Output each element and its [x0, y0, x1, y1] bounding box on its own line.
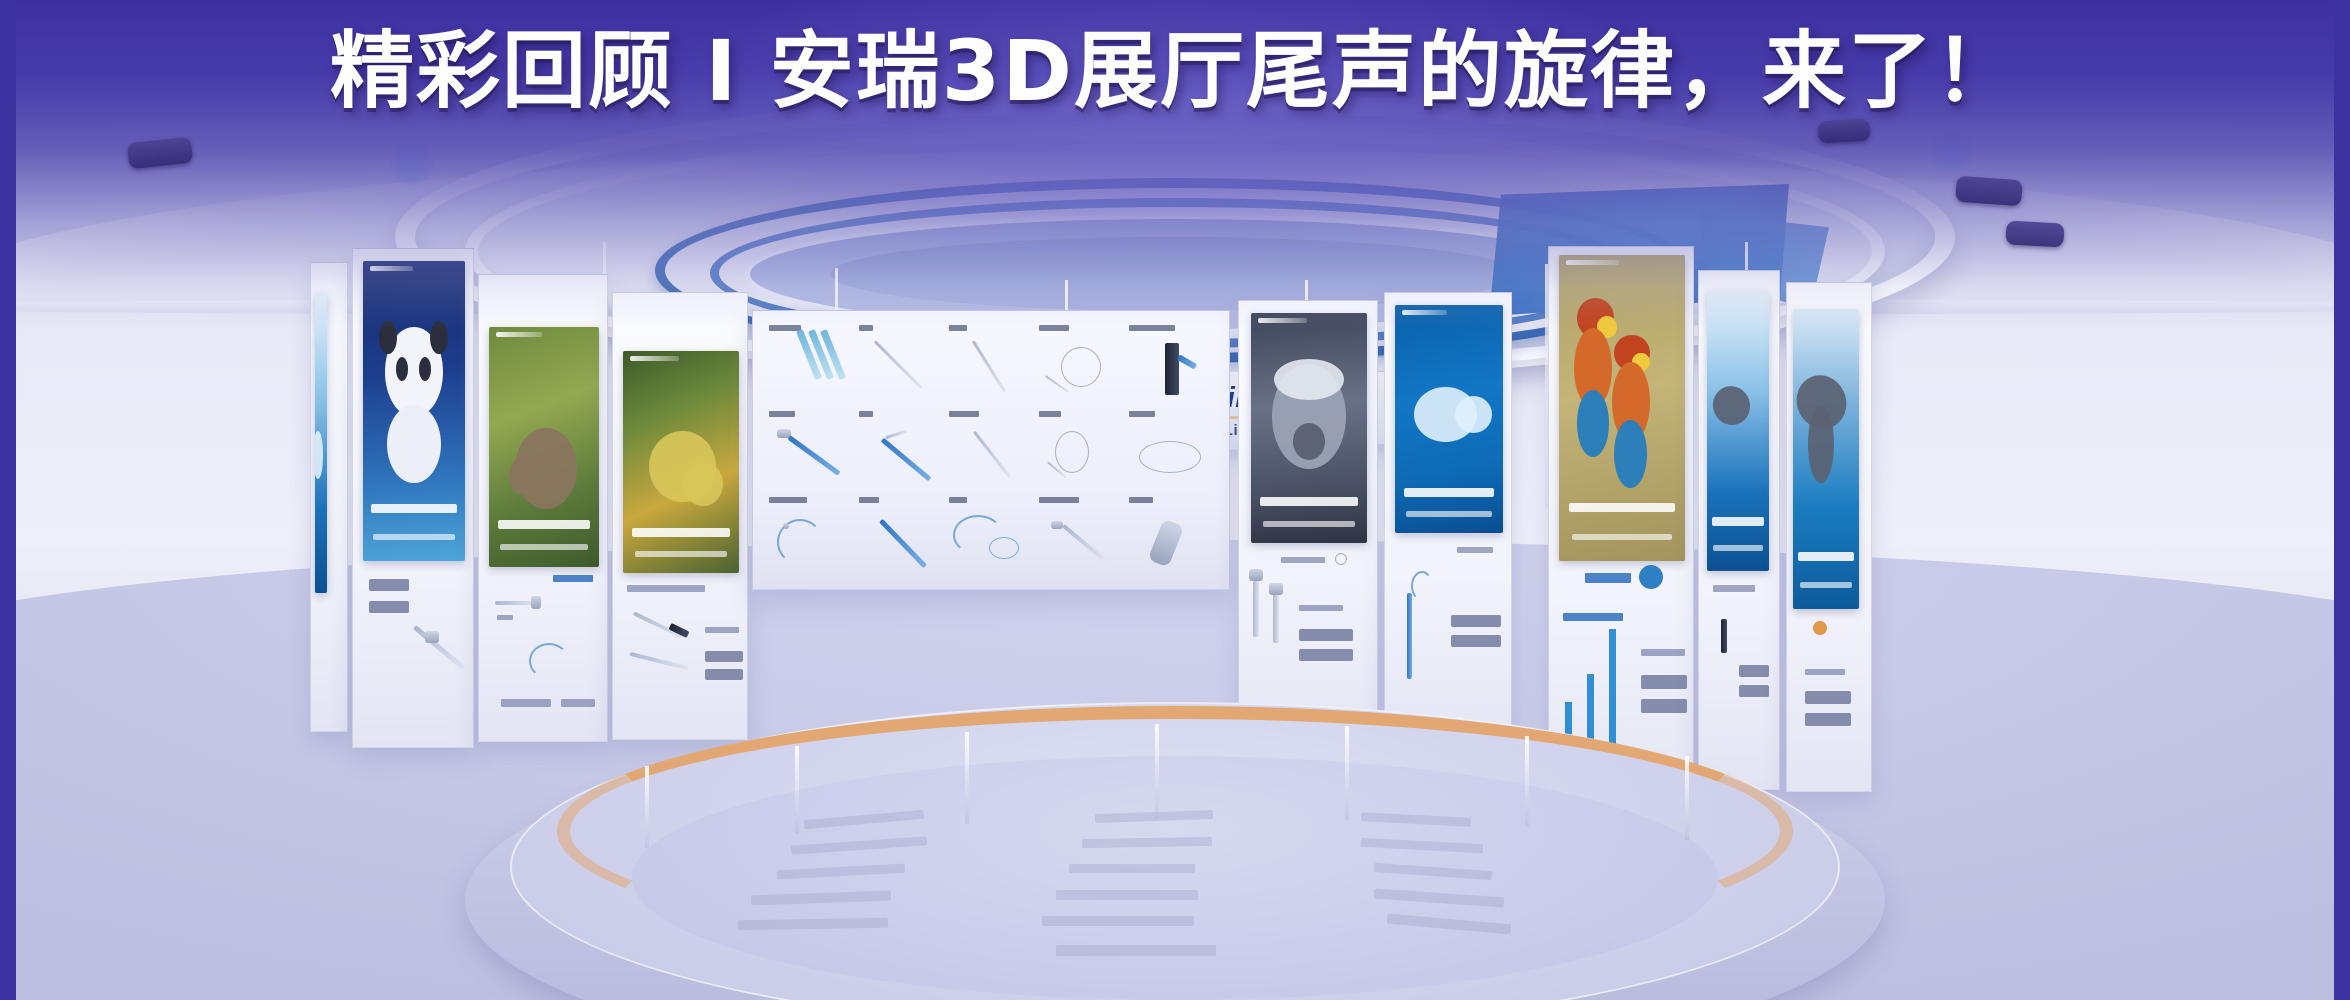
poster-subtitle-bar: [1263, 521, 1356, 527]
platform-post: [1685, 756, 1689, 840]
product-cell: [859, 411, 943, 489]
poster-subtitle-bar: [1800, 582, 1853, 588]
kangaroo-poster[interactable]: [489, 327, 599, 567]
poster-subtitle-bar: [1713, 545, 1763, 551]
circular-stage-platform: [465, 680, 1885, 1000]
frog-poster[interactable]: [623, 351, 739, 573]
product-cell: [859, 325, 943, 403]
poster-brandmark-icon: [1258, 318, 1307, 323]
product-cell: [949, 325, 1033, 403]
platform-post: [965, 732, 969, 824]
left-edge-strip: [0, 0, 16, 1000]
ice-poster[interactable]: [315, 293, 327, 593]
panda-poster[interactable]: [363, 261, 465, 561]
poster-title-bar: [498, 520, 590, 529]
poster-subtitle-bar: [1406, 511, 1492, 517]
ring-glint-left: [389, 140, 435, 186]
poster-subtitle-bar: [500, 544, 588, 550]
info-badge-icon: [1639, 565, 1663, 589]
poster-title-bar: [632, 528, 729, 537]
platform-post: [1525, 736, 1529, 826]
product-cell: [1129, 411, 1217, 489]
poster-brandmark-icon: [630, 356, 679, 361]
poster-subtitle-bar: [373, 534, 455, 540]
poster-brandmark-icon: [496, 332, 542, 337]
panel-far-left[interactable]: [310, 262, 348, 732]
product-cell: [769, 497, 853, 577]
product-cell: [949, 411, 1033, 489]
poster-title-bar: [1569, 503, 1675, 512]
ceiling-spotlight: [1817, 119, 1870, 144]
poster-brandmark-icon: [1566, 260, 1619, 265]
platform-post: [645, 766, 649, 848]
bird-poster[interactable]: [1559, 255, 1685, 561]
poster-title-bar: [1404, 488, 1495, 497]
right-edge-strip: [2334, 0, 2350, 1000]
product-cell: [1039, 325, 1123, 403]
product-grid-board[interactable]: [752, 310, 1230, 590]
product-cell: [1039, 497, 1123, 577]
poster-brandmark-icon: [1402, 310, 1447, 315]
platform-post: [1345, 726, 1349, 820]
product-cell: [1129, 497, 1217, 577]
poster-title-bar: [1712, 517, 1764, 526]
poster-brandmark-icon: [370, 266, 413, 271]
poster-title-bar: [1260, 497, 1357, 506]
ceiling-spotlight: [2005, 220, 2064, 247]
ice-poster-2[interactable]: [1707, 291, 1769, 571]
exhibition-banner: Anrei&Sinolinks Keep Safe Keep Life: [0, 0, 2350, 1000]
page-title: 精彩回顾 I 安瑞3D展厅尾声的旋律，来了！: [0, 26, 2350, 117]
product-cell: [859, 497, 943, 577]
panel-kangaroo[interactable]: [478, 274, 608, 742]
product-cell: [949, 497, 1033, 577]
product-cell: [1129, 325, 1217, 403]
panel-panda[interactable]: [352, 248, 474, 748]
eagle-poster[interactable]: [1793, 309, 1859, 609]
product-cell: [1039, 411, 1123, 489]
platform-accent-band: [557, 706, 1792, 956]
ring-glint-right: [1929, 128, 1975, 174]
accent-dot-icon: [1813, 621, 1827, 635]
poster-subtitle-bar: [635, 551, 728, 557]
poster-title-bar: [1798, 552, 1853, 561]
product-cell: [769, 411, 853, 489]
puffer-poster[interactable]: [1395, 305, 1503, 533]
poster-subtitle-bar: [1572, 534, 1673, 540]
product-cell: [769, 325, 853, 403]
badger-poster[interactable]: [1251, 313, 1367, 543]
panel-frog[interactable]: [612, 292, 748, 740]
device-illustration: [413, 625, 465, 670]
platform-post: [795, 746, 799, 834]
ceiling-spotlight: [1955, 176, 2023, 207]
platform-post: [1155, 724, 1159, 818]
poster-title-bar: [371, 504, 457, 513]
